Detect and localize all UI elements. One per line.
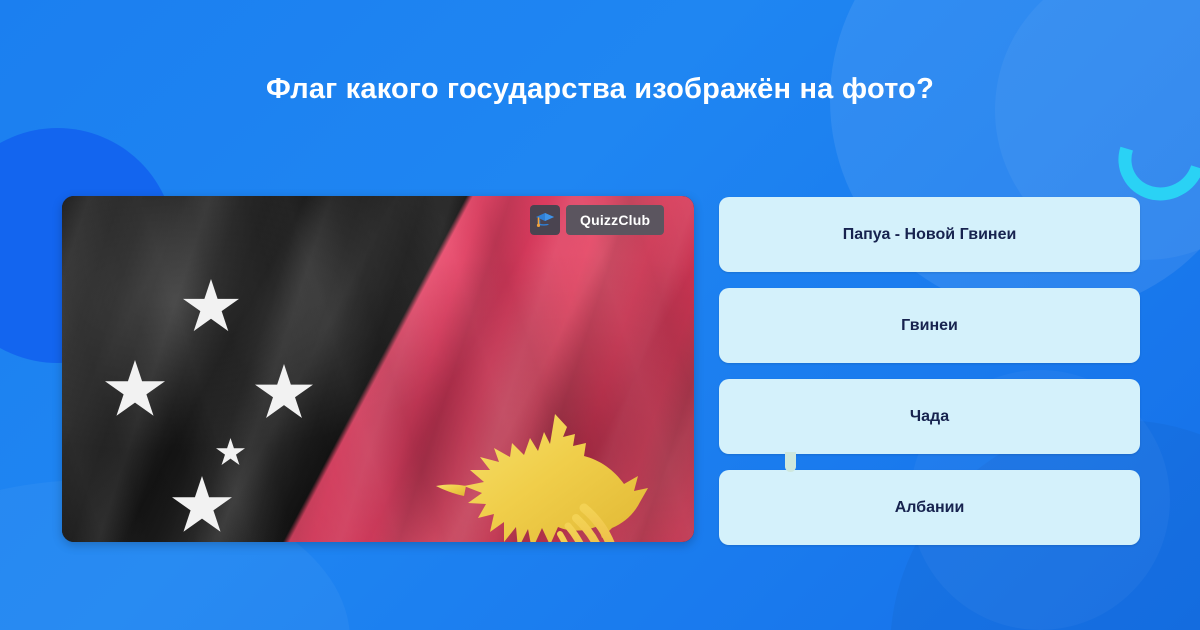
watermark-brand: QuizzClub: [566, 205, 664, 235]
answer-marker-nub: [785, 452, 796, 472]
graduation-cap-icon: [530, 205, 560, 235]
quiz-card: Флаг какого государства изображён на фот…: [0, 0, 1200, 630]
answer-option-2[interactable]: Гвинеи: [719, 288, 1140, 363]
answer-option-4[interactable]: Албании: [719, 470, 1140, 545]
answer-list: Папуа - Новой Гвинеи Гвинеи Чада Албании: [719, 197, 1140, 545]
answer-option-1[interactable]: Папуа - Новой Гвинеи: [719, 197, 1140, 272]
watermark: QuizzClub: [530, 205, 664, 235]
flag-image-papua-new-guinea: [62, 196, 694, 542]
flag-photo: QuizzClub: [62, 196, 694, 542]
answer-option-3[interactable]: Чада: [719, 379, 1140, 454]
question-title: Флаг какого государства изображён на фот…: [0, 72, 1200, 107]
